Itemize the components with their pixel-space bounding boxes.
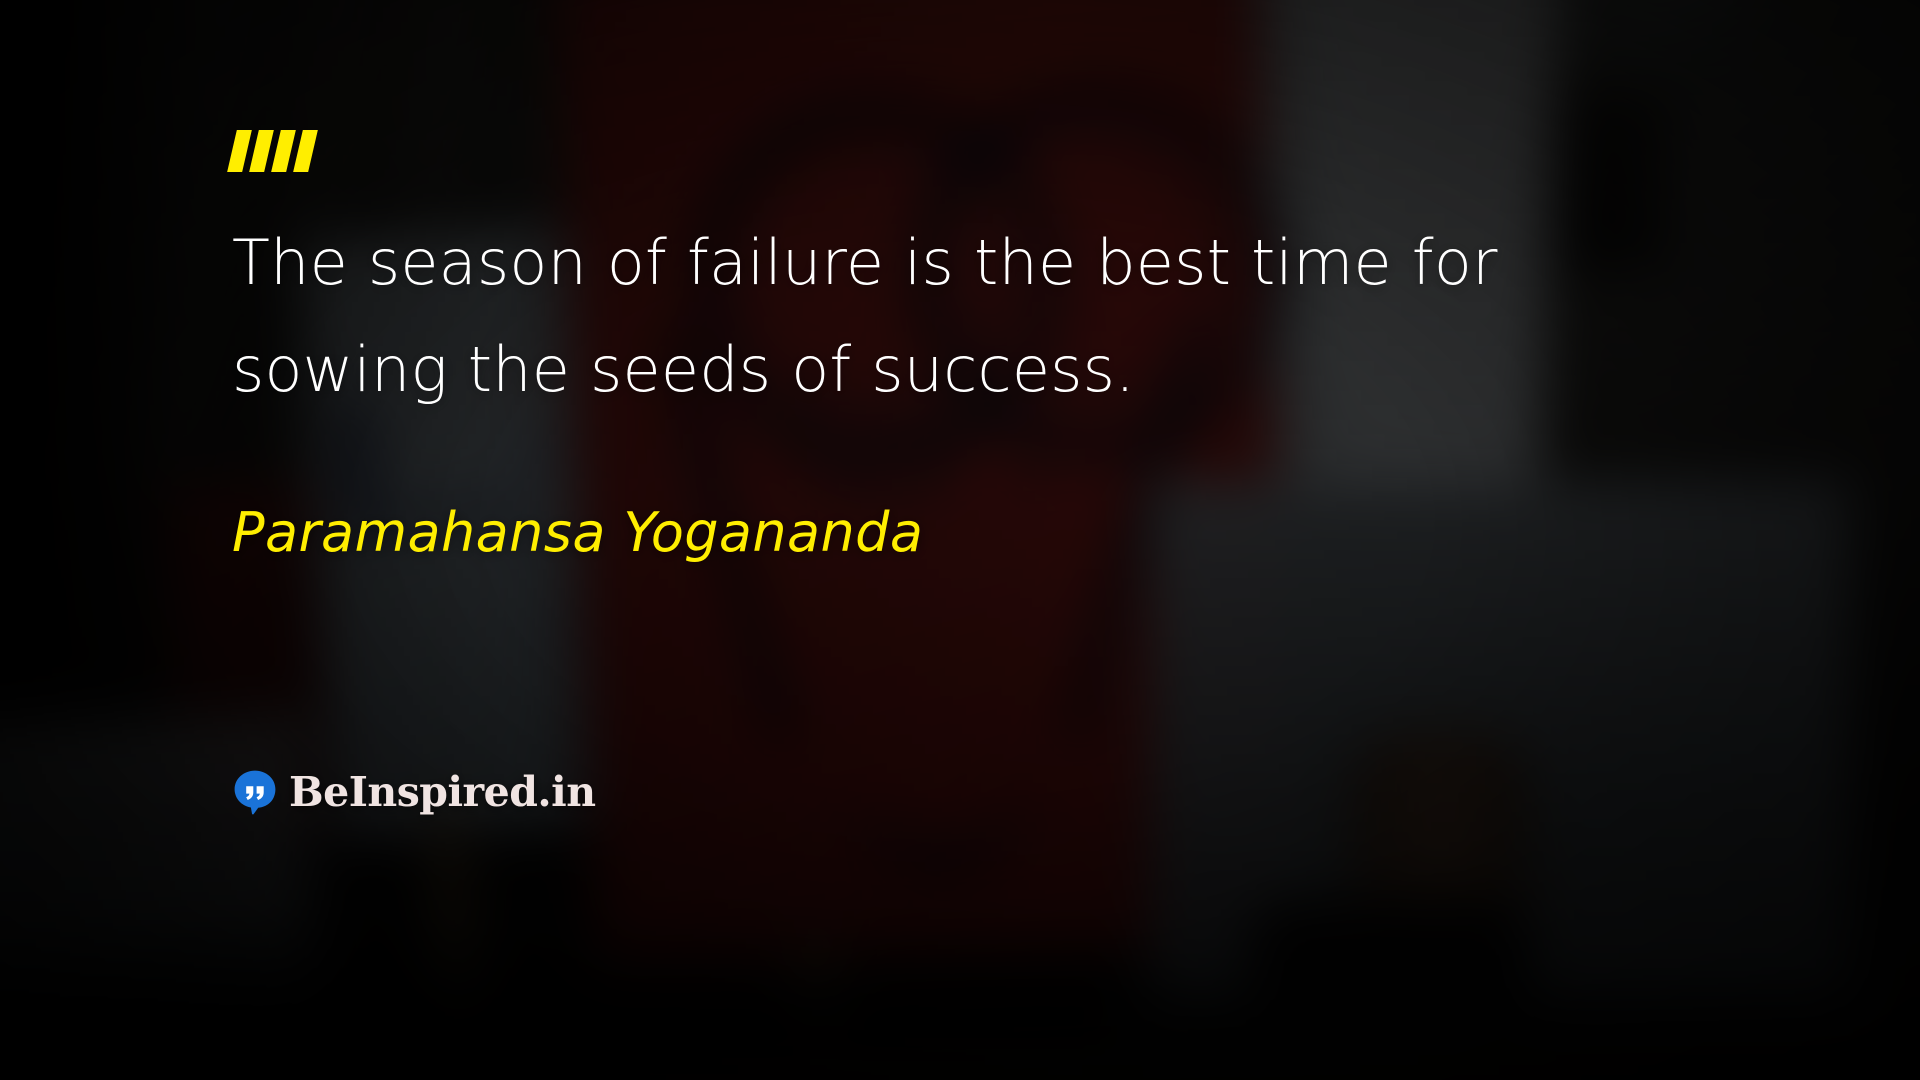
quote-text: The season of failure is the best time f… — [232, 210, 1702, 423]
brand-watermark[interactable]: BeInspired.in — [232, 768, 596, 816]
quote-author: Paramahansa Yogananda — [232, 501, 1752, 564]
quote-bar-2 — [249, 130, 274, 172]
quote-bars-icon — [232, 130, 1752, 172]
brand-name: BeInspired.in — [289, 768, 596, 816]
quote-card: The season of failure is the best time f… — [0, 0, 1920, 1080]
speech-bubble-quote-icon — [232, 769, 278, 815]
quote-bar-4 — [293, 130, 318, 172]
quote-bar-3 — [271, 130, 296, 172]
quote-content: The season of failure is the best time f… — [232, 130, 1752, 564]
